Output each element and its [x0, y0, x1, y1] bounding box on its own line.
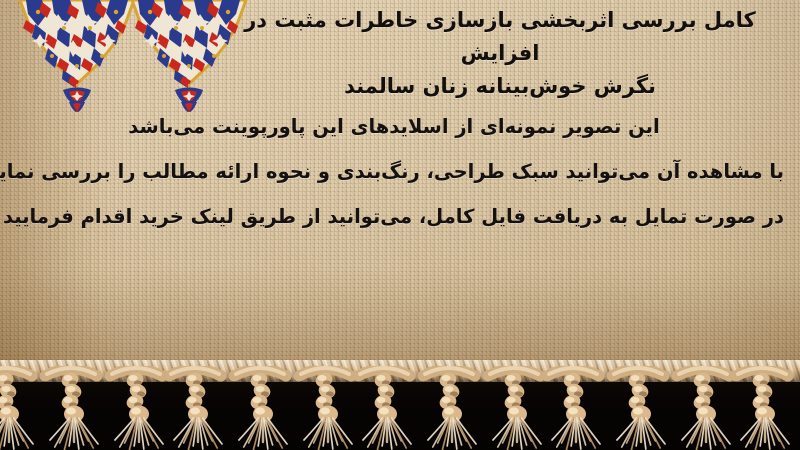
- slide-title-line-2: نگرش خوش‌بینانه زنان سالمند: [220, 70, 780, 103]
- body-line-1: این تصویر نمونه‌ای از اسلایدهای این پاور…: [4, 104, 784, 149]
- tassel-fringe-border: [0, 360, 800, 450]
- body-line-2: با مشاهده آن می‌توانید سبک طراحی، رنگ‌بن…: [4, 149, 784, 194]
- slide-title: کامل بررسی اثربخشی بازسازی خاطرات مثبت د…: [220, 4, 780, 103]
- powerpoint-slide-preview: کامل بررسی اثربخشی بازسازی خاطرات مثبت د…: [0, 0, 800, 450]
- body-line-3: در صورت تمایل به دریافت فایل کامل، می‌تو…: [4, 194, 784, 239]
- tassel-row: [0, 366, 800, 450]
- slide-body-text: این تصویر نمونه‌ای از اسلایدهای این پاور…: [4, 104, 784, 239]
- slide-title-line-1: کامل بررسی اثربخشی بازسازی خاطرات مثبت د…: [220, 4, 780, 70]
- persian-medallion-pendant-icon-left: [18, 0, 136, 112]
